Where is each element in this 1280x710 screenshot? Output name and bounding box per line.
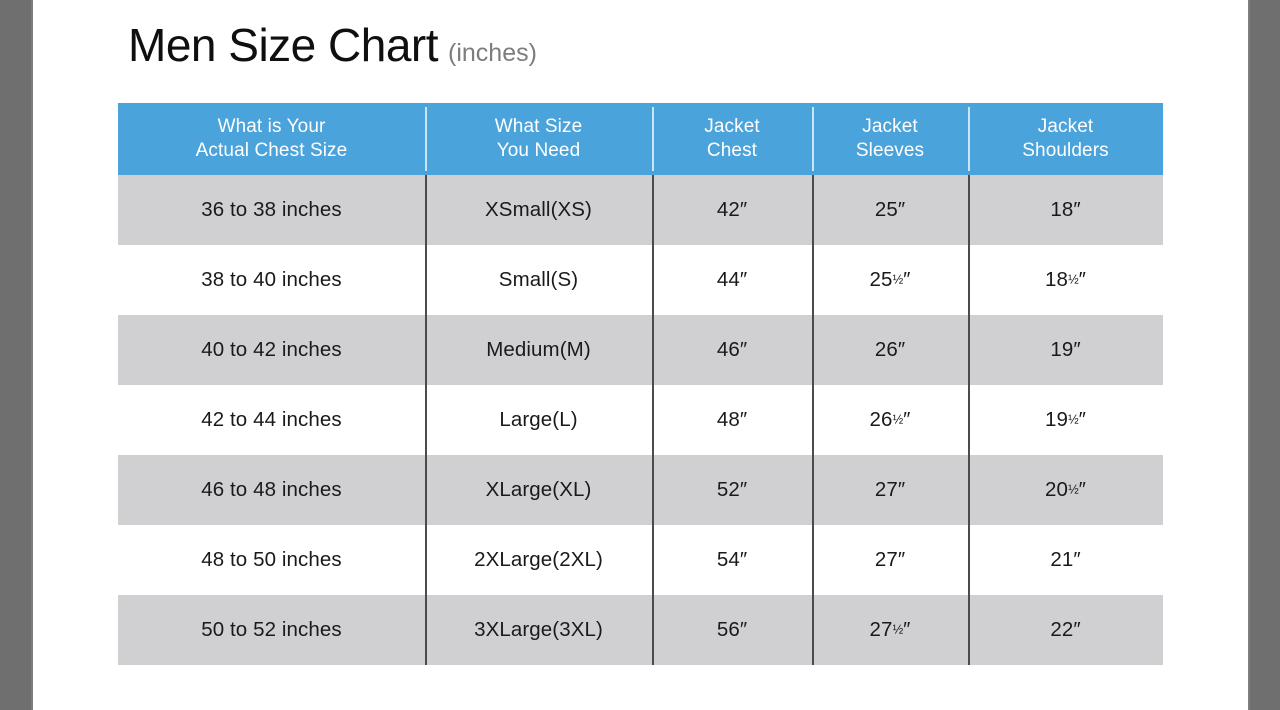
cell-value: 26½″ (870, 408, 911, 432)
cell-jacket-sleeves: 27½″ (812, 595, 968, 665)
column-header-jacket-sleeves: Jacket Sleeves (812, 103, 968, 175)
cell-value: 54″ (717, 548, 747, 572)
column-header-line2: Shoulders (1022, 139, 1108, 163)
cell-value: XSmall(XS) (485, 198, 592, 222)
slide-canvas: Men Size Chart (inches) What is Your Act… (33, 0, 1248, 710)
cell-jacket-shoulders: 20½″ (968, 455, 1163, 525)
cell-value: 46 to 48 inches (201, 478, 342, 502)
column-header-line2: Chest (707, 139, 757, 163)
cell-jacket-chest: 56″ (652, 595, 812, 665)
column-header-jacket-chest: Jacket Chest (652, 103, 812, 175)
cell-actual-chest-size: 38 to 40 inches (118, 245, 425, 315)
cell-value: 48″ (717, 408, 747, 432)
cell-size-you-need: Large(L) (425, 385, 652, 455)
cell-jacket-chest: 52″ (652, 455, 812, 525)
table-row: 42 to 44 inchesLarge(L)48″26½″19½″ (118, 385, 1163, 455)
cell-actual-chest-size: 36 to 38 inches (118, 175, 425, 245)
cell-actual-chest-size: 50 to 52 inches (118, 595, 425, 665)
table-row: 46 to 48 inchesXLarge(XL)52″27″20½″ (118, 455, 1163, 525)
cell-size-you-need: XLarge(XL) (425, 455, 652, 525)
cell-jacket-shoulders: 21″ (968, 525, 1163, 595)
column-header-line1: What Size (495, 115, 583, 139)
cell-jacket-sleeves: 27″ (812, 525, 968, 595)
cell-actual-chest-size: 48 to 50 inches (118, 525, 425, 595)
cell-value: 27″ (875, 548, 905, 572)
column-header-actual-chest-size: What is Your Actual Chest Size (118, 103, 425, 175)
cell-value: 38 to 40 inches (201, 268, 342, 292)
backdrop-right-gutter (1248, 0, 1280, 710)
cell-value: 44″ (717, 268, 747, 292)
table-row: 40 to 42 inchesMedium(M)46″26″19″ (118, 315, 1163, 385)
cell-value: 52″ (717, 478, 747, 502)
table-row: 50 to 52 inches3XLarge(3XL)56″27½″22″ (118, 595, 1163, 665)
cell-jacket-chest: 54″ (652, 525, 812, 595)
cell-value: Small(S) (499, 268, 578, 292)
cell-value: 26″ (875, 338, 905, 362)
cell-value: 2XLarge(2XL) (474, 548, 603, 572)
cell-value: 42″ (717, 198, 747, 222)
page-title: Men Size Chart (inches) (128, 22, 537, 68)
column-header-jacket-shoulders: Jacket Shoulders (968, 103, 1163, 175)
cell-value: 56″ (717, 618, 747, 642)
cell-jacket-shoulders: 22″ (968, 595, 1163, 665)
backdrop-left-gutter (0, 0, 33, 710)
column-header-line1: Jacket (1038, 115, 1094, 139)
table-row: 48 to 50 inches2XLarge(2XL)54″27″21″ (118, 525, 1163, 595)
column-header-line2: Sleeves (856, 139, 924, 163)
cell-value: 48 to 50 inches (201, 548, 342, 572)
page-title-unit: (inches) (448, 41, 537, 66)
cell-value: 46″ (717, 338, 747, 362)
table-row: 38 to 40 inchesSmall(S)44″25½″18½″ (118, 245, 1163, 315)
size-chart-table: What is Your Actual Chest Size What Size… (118, 103, 1163, 665)
cell-value: 50 to 52 inches (201, 618, 342, 642)
cell-jacket-sleeves: 26″ (812, 315, 968, 385)
cell-value: 42 to 44 inches (201, 408, 342, 432)
cell-jacket-sleeves: 25″ (812, 175, 968, 245)
cell-jacket-chest: 48″ (652, 385, 812, 455)
table-header-row: What is Your Actual Chest Size What Size… (118, 103, 1163, 175)
cell-jacket-chest: 46″ (652, 315, 812, 385)
cell-jacket-chest: 44″ (652, 245, 812, 315)
cell-jacket-sleeves: 26½″ (812, 385, 968, 455)
table-row: 36 to 38 inchesXSmall(XS)42″25″18″ (118, 175, 1163, 245)
cell-jacket-shoulders: 19½″ (968, 385, 1163, 455)
cell-value: Large(L) (499, 408, 577, 432)
cell-value: 18″ (1050, 198, 1080, 222)
cell-value: Medium(M) (486, 338, 591, 362)
column-header-line2: You Need (497, 139, 581, 163)
cell-jacket-shoulders: 18½″ (968, 245, 1163, 315)
cell-actual-chest-size: 46 to 48 inches (118, 455, 425, 525)
column-header-line1: What is Your (218, 115, 326, 139)
cell-jacket-sleeves: 25½″ (812, 245, 968, 315)
cell-value: 25½″ (870, 268, 911, 292)
column-header-size-you-need: What Size You Need (425, 103, 652, 175)
cell-jacket-shoulders: 18″ (968, 175, 1163, 245)
cell-actual-chest-size: 42 to 44 inches (118, 385, 425, 455)
cell-value: 20½″ (1045, 478, 1086, 502)
column-header-line2: Actual Chest Size (196, 139, 348, 163)
cell-size-you-need: Medium(M) (425, 315, 652, 385)
table-body: 36 to 38 inchesXSmall(XS)42″25″18″38 to … (118, 175, 1163, 665)
cell-value: 25″ (875, 198, 905, 222)
cell-size-you-need: XSmall(XS) (425, 175, 652, 245)
cell-jacket-chest: 42″ (652, 175, 812, 245)
cell-value: 21″ (1050, 548, 1080, 572)
cell-size-you-need: Small(S) (425, 245, 652, 315)
cell-value: 22″ (1050, 618, 1080, 642)
cell-value: 19½″ (1045, 408, 1086, 432)
cell-value: 27″ (875, 478, 905, 502)
cell-value: 40 to 42 inches (201, 338, 342, 362)
cell-size-you-need: 2XLarge(2XL) (425, 525, 652, 595)
cell-value: 3XLarge(3XL) (474, 618, 603, 642)
cell-size-you-need: 3XLarge(3XL) (425, 595, 652, 665)
column-header-line1: Jacket (704, 115, 760, 139)
column-header-line1: Jacket (862, 115, 918, 139)
cell-value: XLarge(XL) (486, 478, 592, 502)
screen: Men Size Chart (inches) What is Your Act… (0, 0, 1280, 710)
cell-value: 27½″ (870, 618, 911, 642)
cell-jacket-shoulders: 19″ (968, 315, 1163, 385)
cell-jacket-sleeves: 27″ (812, 455, 968, 525)
cell-value: 36 to 38 inches (201, 198, 342, 222)
page-title-main: Men Size Chart (128, 22, 438, 68)
cell-actual-chest-size: 40 to 42 inches (118, 315, 425, 385)
cell-value: 18½″ (1045, 268, 1086, 292)
cell-value: 19″ (1050, 338, 1080, 362)
